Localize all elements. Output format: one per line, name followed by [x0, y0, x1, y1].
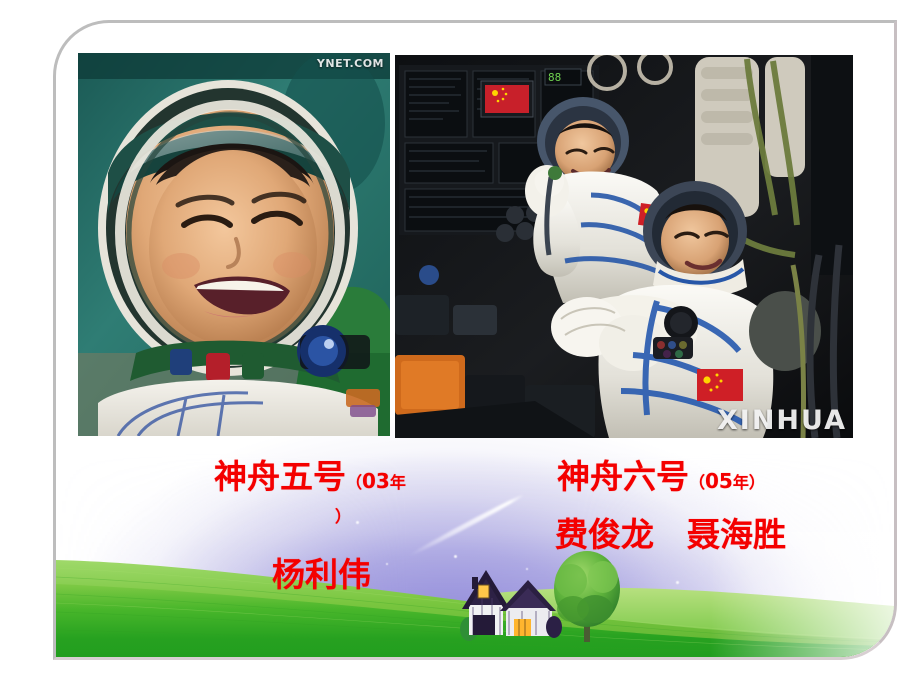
shenzhou-5-crew: 杨利伟: [272, 558, 371, 591]
shenzhou-6-title-line: 神舟六号（05年）: [557, 460, 765, 493]
presentation-slide: YNET.COM: [0, 0, 920, 690]
shenzhou-5-astronaut-photo: YNET.COM: [78, 53, 390, 436]
shenzhou-5-title-line: 神舟五号（03年: [214, 460, 406, 493]
shenzhou-6-year: 05: [705, 469, 733, 493]
tree-icon: [551, 547, 627, 647]
shenzhou-5-year-unit: 年: [390, 473, 406, 492]
shenzhou-6-year-unit: 年: [733, 473, 749, 492]
shenzhou-6-crew: 费俊龙 聂海胜: [555, 518, 786, 551]
slide-border-frame: YNET.COM: [53, 20, 897, 660]
cottage-house-icon: [456, 553, 566, 645]
shenzhou-5-title: 神舟五号: [214, 457, 346, 496]
left-paren-close: ）: [335, 507, 351, 526]
left-paren-open: （: [346, 473, 362, 492]
svg-text:88: 88: [548, 71, 561, 84]
right-paren-open: （: [689, 473, 705, 492]
shenzhou-6-crew-photo: 88: [395, 55, 853, 438]
shenzhou-5-year: 03: [362, 469, 390, 493]
right-paren-close: ）: [749, 473, 765, 492]
star-speck: [356, 521, 359, 524]
shenzhou-6-title: 神舟六号: [557, 457, 689, 496]
slide-frame-inner: YNET.COM: [56, 23, 894, 657]
shenzhou-5-title-paren-wrap: ）: [335, 509, 351, 525]
